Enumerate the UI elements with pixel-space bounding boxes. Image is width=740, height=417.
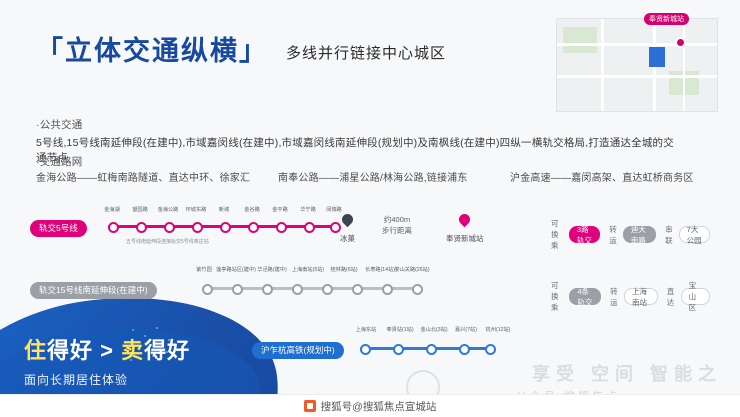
poi-fengxian-station: 奉贤新城站 xyxy=(446,212,484,244)
line-badge-huzhahang-hsr: 沪乍杭高铁(规划中) xyxy=(252,342,344,359)
chip-label-connect: 转运 xyxy=(609,224,618,246)
decorative-dots xyxy=(128,325,180,365)
line-badge-metro-5: 轨交5号线 xyxy=(30,220,87,237)
map-station-label: 奉贤新城站 xyxy=(644,13,689,25)
transit-line-row-2: 轨交15号线南延伸段(在建中) 紫竹园 莲亭路站区(建中) 华泾路(建中) 上海… xyxy=(30,258,710,304)
slogan-line-2: 面向长期居住体验 xyxy=(24,371,128,388)
chip-destination: 迪大南路 xyxy=(623,226,656,243)
road-line-2: 南奉公路——浦星公路/林海公路,链接浦东 xyxy=(278,172,468,187)
poi-bingguo-label: 冰菓 xyxy=(340,233,355,244)
chip-label-transfer: 可换乘 xyxy=(551,218,564,251)
chip-district: 宝山区 xyxy=(681,288,710,305)
location-pin-icon xyxy=(340,212,356,228)
watermark-main: 享受 空间 智能之 xyxy=(532,360,722,386)
location-pin-icon xyxy=(457,212,473,228)
bottom-bar-text: 搜狐号@搜狐焦点宣城站 xyxy=(321,399,437,414)
poi-fengxian-label: 奉贤新城站 xyxy=(446,233,484,244)
chip-destination-2: 上海南站 xyxy=(624,288,658,305)
line-1-note: 五号线南延伸段连接轨交5号线莘庄站 xyxy=(126,238,209,245)
page-title: 「立体交通纵横」 xyxy=(36,38,268,65)
slogan-word-live: 住 xyxy=(24,338,47,363)
line-2-chips: 可换乘 4条轨交 转运 上海南站 直达 宝山区 xyxy=(542,280,710,313)
line-1-chips: 可换乘 3路轨交 转运 迪大南路 串联 7大公园 xyxy=(542,218,710,251)
section-public-transit-label: ·公共交通 xyxy=(36,118,83,133)
chip-metro-count: 3路轨交 xyxy=(569,226,600,243)
chip-label-connect-2: 转运 xyxy=(610,286,619,308)
chip-parks: 7大公园 xyxy=(679,226,710,243)
chip-metro-count-2: 4条轨交 xyxy=(569,288,601,305)
slogan-word-live-well: 得好 > xyxy=(47,338,121,363)
road-line-3: 沪金高速——嘉闵高架、直达虹桥商务区 xyxy=(510,172,694,187)
road-line-1: 金海公路——虹梅南路隧道、直达中环、徐家汇 xyxy=(36,172,250,187)
chip-label-transfer-2: 可换乘 xyxy=(551,280,564,313)
map-pin-icon xyxy=(675,37,686,48)
section-road-network-label: ·交通路网 xyxy=(36,155,83,170)
chip-label-direct: 直达 xyxy=(667,286,676,308)
transit-line-row-1: 轨交5号线 金海湖 望园路 金海公路 环城东路 新城 金谷路 xyxy=(30,196,710,242)
poi-walk-distance: 约400m 步行距离 xyxy=(382,214,412,236)
poi-bingguo: 冰菓 xyxy=(340,212,355,244)
public-transit-description: 5号线,15号线南延伸段(在建中),市域嘉闵线(在建中),市域嘉闵线南延伸段(规… xyxy=(36,136,676,166)
slide-page: 「立体交通纵横」 多线并行链接中心城区 ·公共交通 5号线,15号线南延伸段(在… xyxy=(0,0,740,417)
bottom-bar: 搜狐号@搜狐焦点宣城站 xyxy=(0,394,740,417)
mini-map: 奉贤新城站 xyxy=(556,18,718,112)
sohu-logo-icon xyxy=(304,400,316,412)
chip-label-series: 串联 xyxy=(665,224,674,246)
line-badge-metro-15: 轨交15号线南延伸段(在建中) xyxy=(30,282,157,299)
page-subtitle: 多线并行链接中心城区 xyxy=(286,42,446,63)
heading-block: 「立体交通纵横」 多线并行链接中心城区 xyxy=(36,38,446,65)
